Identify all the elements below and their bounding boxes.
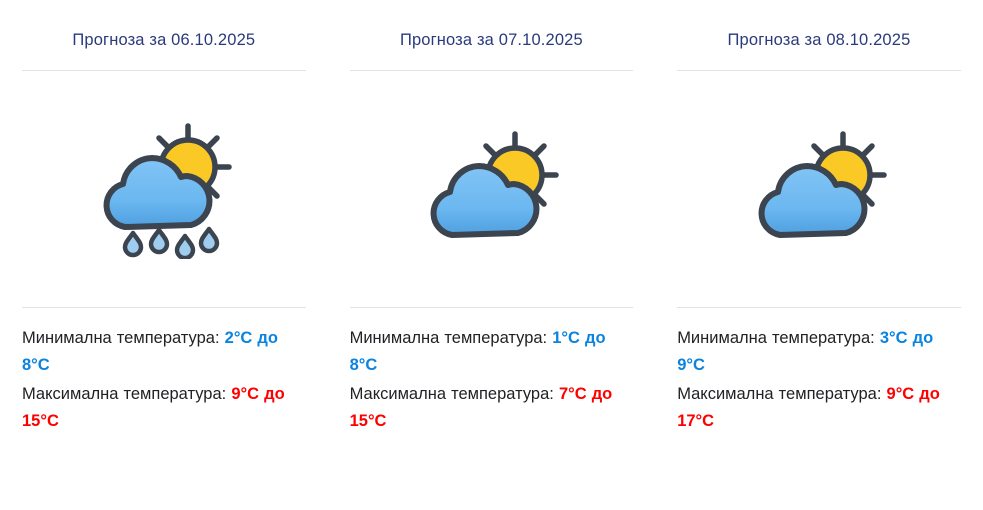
temperature-block: Минимална температура: 2°C до 8°C Максим… — [22, 308, 306, 436]
weather-icon-area — [22, 71, 306, 307]
forecast-grid: Прогноза за 06.10.2025 — [0, 0, 983, 510]
weather-icon-area — [350, 71, 634, 307]
min-temperature-label: Минимална температура: — [22, 329, 220, 347]
forecast-card-day-2: Прогноза за 07.10.2025 — [328, 0, 656, 510]
min-temperature-line: Минимална температура: 1°C до 8°C — [350, 325, 634, 378]
forecast-date-title: Прогноза за 08.10.2025 — [677, 0, 961, 51]
temperature-block: Минимална температура: 3°C до 9°C Максим… — [677, 308, 961, 436]
raindrops — [125, 229, 217, 258]
forecast-date-title: Прогноза за 07.10.2025 — [350, 0, 634, 51]
sun-behind-rain-cloud-icon — [89, 119, 239, 259]
max-temperature-label: Максимална температура: — [22, 385, 226, 403]
forecast-card-day-3: Прогноза за 08.10.2025 — [655, 0, 983, 510]
forecast-date-title: Прогноза за 06.10.2025 — [22, 0, 306, 51]
max-temperature-line: Максимална температура: 7°C до 15°C — [350, 381, 634, 434]
forecast-card-day-1: Прогноза за 06.10.2025 — [0, 0, 328, 510]
min-temperature-label: Минимална температура: — [677, 329, 875, 347]
min-temperature-label: Минимална температура: — [350, 329, 548, 347]
max-temperature-label: Максимална температура: — [350, 385, 554, 403]
max-temperature-line: Максимална температура: 9°C до 15°C — [22, 381, 306, 434]
max-temperature-label: Максимална температура: — [677, 385, 881, 403]
max-temperature-line: Максимална температура: 9°C до 17°C — [677, 381, 961, 434]
min-temperature-line: Минимална температура: 2°C до 8°C — [22, 325, 306, 378]
temperature-block: Минимална температура: 1°C до 8°C Максим… — [350, 308, 634, 436]
sun-behind-cloud-icon — [744, 127, 894, 252]
weather-icon-area — [677, 71, 961, 307]
min-temperature-line: Минимална температура: 3°C до 9°C — [677, 325, 961, 378]
sun-behind-cloud-icon — [416, 127, 566, 252]
